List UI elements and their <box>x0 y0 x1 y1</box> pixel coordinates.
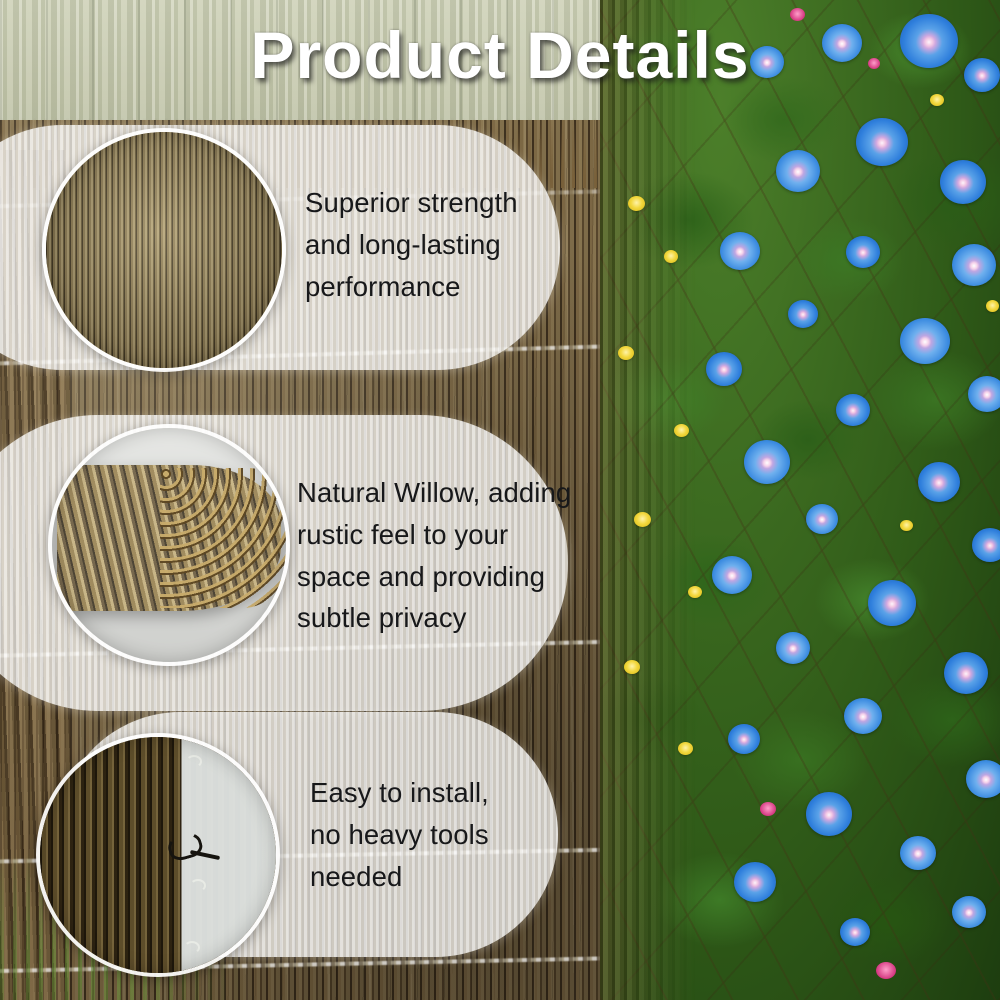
yellow-flower <box>628 196 645 211</box>
wire-hook <box>184 941 200 954</box>
morning-glory-flower <box>744 440 790 484</box>
feature-line: space and providing <box>297 556 577 598</box>
morning-glory-flower <box>806 792 852 836</box>
yellow-flower <box>664 250 678 263</box>
morning-glory-background <box>600 0 1000 1000</box>
feature-line: Superior strength <box>305 182 565 224</box>
feature-thumbnail-willow-bundle <box>48 424 290 666</box>
morning-glory-flower <box>776 632 810 664</box>
feature-thumbnail-willow-screen <box>42 128 286 372</box>
yellow-flower <box>618 346 634 360</box>
feature-line: rustic feel to your <box>297 514 577 556</box>
cable-tie-icon <box>165 829 205 863</box>
fence-behind-vines <box>600 0 695 1000</box>
morning-glory-flower <box>900 836 936 870</box>
willow-screen-closeup-photo <box>46 132 282 368</box>
feature-line: Easy to install, <box>310 772 560 814</box>
page-title: Product Details <box>0 22 1000 88</box>
product-details-infographic: Product Details Superior strength and lo… <box>0 0 1000 1000</box>
feature-text-strength: Superior strength and long-lasting perfo… <box>305 182 565 307</box>
feature-line: needed <box>310 856 560 898</box>
yellow-flower <box>674 424 689 437</box>
morning-glory-flower <box>840 918 870 946</box>
morning-glory-flower <box>918 462 960 502</box>
feature-line: and long-lasting <box>305 224 565 266</box>
cable-tie-tail <box>190 850 220 860</box>
yellow-flower <box>678 742 693 755</box>
yellow-flower <box>624 660 640 674</box>
feature-line: performance <box>305 266 565 308</box>
morning-glory-flower <box>940 160 986 204</box>
morning-glory-flower <box>868 580 916 626</box>
morning-glory-flower <box>806 504 838 534</box>
wire-hook <box>190 879 206 892</box>
morning-glory-flower <box>856 118 908 166</box>
morning-glory-flower <box>844 698 882 734</box>
morning-glory-flower <box>728 724 760 754</box>
morning-glory-flower <box>720 232 760 270</box>
yellow-flower <box>900 520 913 531</box>
morning-glory-flower <box>846 236 880 268</box>
wire-hook <box>186 755 202 768</box>
feature-text-material: Natural Willow, adding rustic feel to yo… <box>297 472 577 639</box>
willow-rod-bundle-photo <box>52 428 286 662</box>
pink-bud <box>760 802 776 816</box>
feature-thumbnail-cable-tie <box>36 733 280 977</box>
morning-glory-flower <box>944 652 988 694</box>
willow-rod-stack <box>57 465 282 610</box>
feature-text-install: Easy to install, no heavy tools needed <box>310 772 560 897</box>
yellow-flower <box>634 512 651 527</box>
yellow-flower <box>986 300 999 312</box>
morning-glory-flower <box>900 318 950 364</box>
morning-glory-flower <box>952 896 986 928</box>
morning-glory-flower <box>734 862 776 902</box>
morning-glory-flower <box>776 150 820 192</box>
feature-line: Natural Willow, adding <box>297 472 577 514</box>
morning-glory-flower <box>968 376 1000 412</box>
morning-glory-flower <box>712 556 752 594</box>
feature-line: subtle privacy <box>297 597 577 639</box>
pink-bud <box>876 962 896 979</box>
morning-glory-flower <box>706 352 742 386</box>
willow-fence-cable-tie-photo <box>40 737 276 973</box>
morning-glory-flower <box>788 300 818 328</box>
morning-glory-flower <box>972 528 1000 562</box>
morning-glory-flower <box>966 760 1000 798</box>
morning-glory-flower <box>952 244 996 286</box>
yellow-flower <box>930 94 944 106</box>
pink-bud <box>790 8 805 21</box>
feature-line: no heavy tools <box>310 814 560 856</box>
yellow-flower <box>688 586 702 598</box>
morning-glory-flower <box>836 394 870 426</box>
